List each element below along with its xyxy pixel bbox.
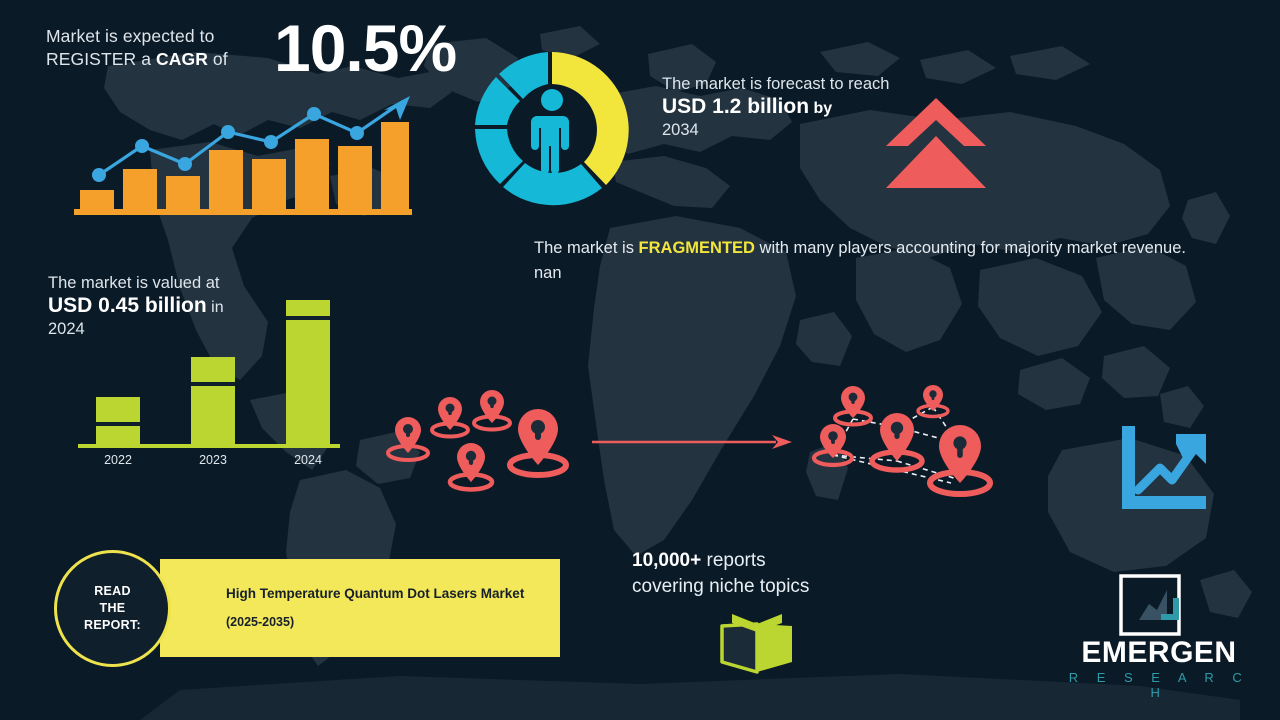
year-label-2024: 2024 [278,453,338,467]
cagr-lead-keyword: CAGR [156,49,208,69]
open-book-icon [718,612,796,674]
emergen-research-logo[interactable]: EMERGEN R E S E A R C H [1061,574,1257,696]
double-up-chevron-icon [884,96,988,190]
fragmented-highlight: FRAGMENTED [639,239,755,257]
reports-count-unit: reports [701,550,765,571]
forecast-year: 2034 [662,119,892,141]
valuation-in-label: in [211,299,223,316]
infographic-canvas: Market is expected to REGISTER a CAGR of… [0,0,1280,720]
cagr-lead-line2-post: of [208,49,228,69]
forecast-block: The market is forecast to reach USD 1.2 … [662,73,892,141]
connected-location-pin-network-icon [805,383,1007,505]
donut-person-icon [531,89,569,174]
location-pin-cluster-icon [380,385,572,500]
read-the-report-badge[interactable]: READ THE REPORT: [54,550,171,667]
report-period: (2025-2035) [226,613,556,631]
report-title-text: High Temperature Quantum Dot Lasers Mark… [226,586,524,601]
valuation-lead: The market is valued at [48,272,288,294]
year-bars-baseline [78,444,340,448]
valuation-year: 2024 [48,318,288,340]
year-label-2022: 2022 [88,453,148,467]
market-share-donut [466,44,638,216]
valuation-value: USD 0.45 billion [48,294,207,317]
forecast-lead: The market is forecast to reach [662,73,892,95]
cagr-block: Market is expected to REGISTER a CAGR of… [46,25,446,71]
year-bar-2023-divider [191,382,235,386]
valuation-block: The market is valued at USD 0.45 billion… [48,272,288,340]
fragmented-pre: The market is [534,239,639,257]
logo-name: EMERGEN [1061,638,1257,668]
year-label-2023: 2023 [183,453,243,467]
year-bar-2022 [96,397,140,444]
year-bar-2024 [286,300,330,444]
logo-subtitle: R E S E A R C H [1061,670,1257,700]
report-title: High Temperature Quantum Dot Lasers Mark… [226,585,556,631]
forecast-value-row: USD 1.2 billion by [662,95,892,119]
growth-trend-arrowhead [384,96,410,120]
fragmentation-statement: The market is FRAGMENTED with many playe… [534,236,1214,286]
market-growth-chart [72,84,412,219]
reports-count-block: 10,000+ reportscovering niche topics [632,548,892,600]
reports-count-line: 10,000+ reportscovering niche topics [632,548,892,600]
forecast-by-label: by [813,100,832,117]
forecast-value: USD 1.2 billion [662,95,809,118]
read-the-report-banner[interactable]: READ THE REPORT: High Temperature Quantu… [54,559,560,657]
reports-count-value: 10,000+ [632,550,701,571]
square-chart-mark-icon [1119,574,1181,636]
reports-count-line2: covering niche topics [632,576,809,597]
read-the-report-label: READ THE REPORT: [84,583,141,634]
growth-chart-baseline [74,209,412,215]
line-chart-up-icon [1118,424,1210,512]
cagr-lead-line1: Market is expected to [46,26,214,46]
valuation-value-row: USD 0.45 billion in [48,294,288,318]
year-bar-2024-divider [286,316,330,320]
right-arrow-icon [592,432,792,452]
year-bar-2022-divider [96,422,140,426]
year-bar-2023 [191,357,235,444]
cagr-value: 10.5% [274,15,456,81]
cagr-lead-line2-pre: REGISTER a [46,49,156,69]
